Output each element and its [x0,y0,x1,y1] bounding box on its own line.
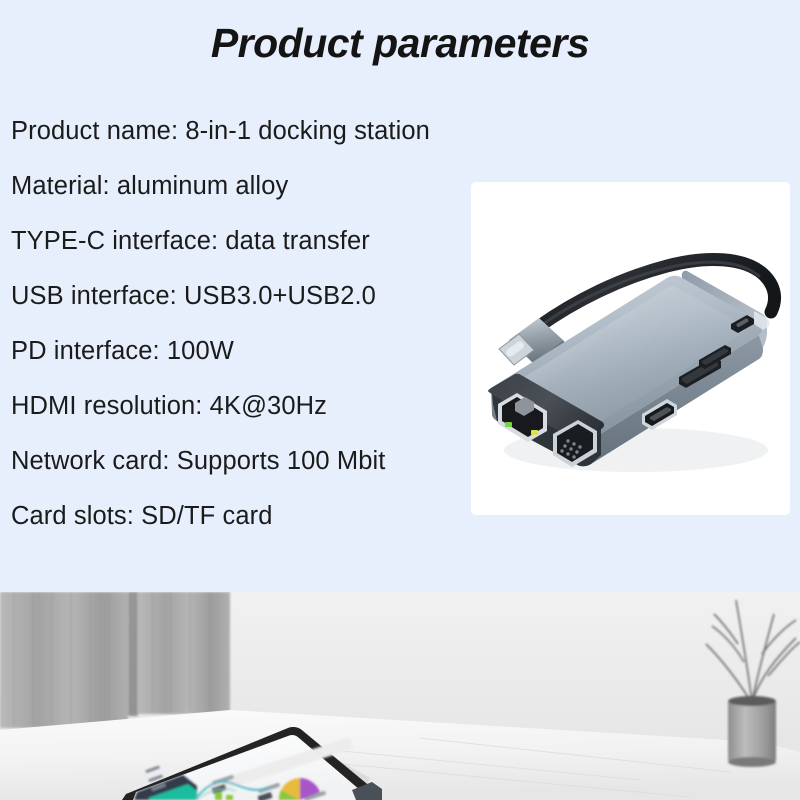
product-photo-card [471,182,790,515]
spec-line-product-name: Product name: 8-in-1 docking station [11,104,471,159]
spec-list: Product name: 8-in-1 docking station Mat… [11,104,471,544]
lifestyle-scene [0,592,800,800]
spec-panel: Product parameters Product name: 8-in-1 … [0,0,800,592]
spec-line-card-slots: Card slots: SD/TF card [11,489,471,544]
vase [728,700,776,762]
curtains [0,592,230,728]
product-spec-page: Product parameters Product name: 8-in-1 … [0,0,800,800]
spec-line-type-c-interface: TYPE-C interface: data transfer [11,214,471,269]
lifestyle-photo [0,592,800,800]
spec-line-hdmi-resolution: HDMI resolution: 4K@30Hz [11,379,471,434]
page-title: Product parameters [0,18,800,68]
product-photo [471,182,790,515]
spec-line-pd-interface: PD interface: 100W [11,324,471,379]
spec-line-material: Material: aluminum alloy [11,159,471,214]
spec-line-usb-interface: USB interface: USB3.0+USB2.0 [11,269,471,324]
spec-line-network-card: Network card: Supports 100 Mbit [11,434,471,489]
